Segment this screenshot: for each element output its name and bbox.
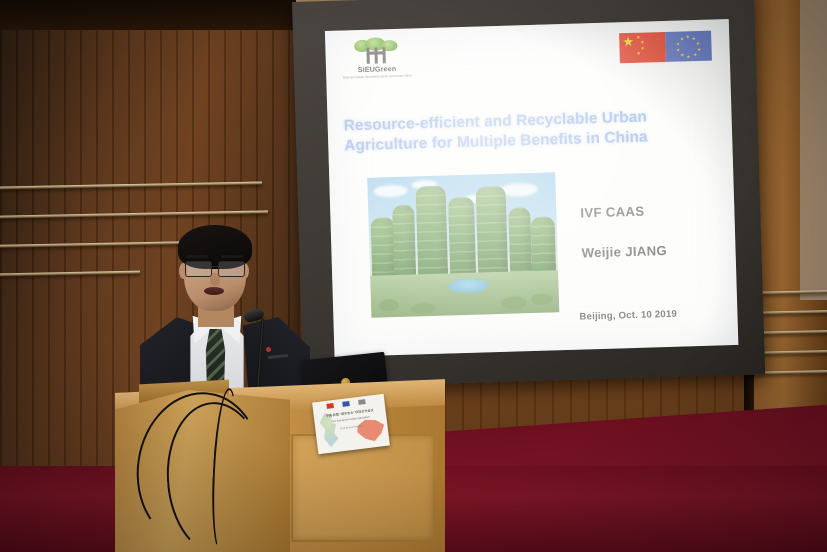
presenter-name: Weijie JIANG [581,241,731,260]
nose [210,273,220,286]
lapel-pin [266,347,271,352]
sign-eu-flag-icon [342,401,350,407]
organization-label: IVF CAAS [580,201,730,220]
sieugreen-logo: SiEUGreen Sino-European innovative green… [339,36,414,86]
mouth [204,287,224,295]
slide-title: Resource-efficient and Recyclable Urban … [343,105,716,157]
vertical-forest-image [367,172,559,318]
projection-screen: SiEUGreen Sino-European innovative green… [292,0,765,388]
tree-pillars-icon [353,37,400,64]
eu-flag-icon: ★ ★ ★ ★ ★ ★ ★ ★ ★ ★ [665,31,712,62]
flags-group: ★ ★ ★ ★ ★ ★ ★ ★ ★ ★ ★ ★ ★ [619,31,712,64]
podium-front-panel [291,434,435,542]
place-date-label: Beijing, Oct. 10 2019 [579,307,738,323]
right-light-panel [800,0,827,300]
china-map-icon [354,416,387,445]
eyebrow [221,255,243,258]
presentation-photo: SiEUGreen Sino-European innovative green… [0,0,827,552]
eyebrow [186,255,208,258]
presentation-slide: SiEUGreen Sino-European innovative green… [325,19,738,357]
podium-meeting-sign: 中国-欧盟 "城市农业" 项目合作会议 Sino-European Urban … [312,394,390,454]
china-flag-icon: ★ ★ ★ ★ ★ [619,32,666,63]
eu-star-ring: ★ ★ ★ ★ ★ ★ ★ ★ ★ ★ [679,36,699,56]
sign-logo-icon [358,399,366,405]
sign-china-flag-icon [326,403,334,409]
lectern-podium [115,396,445,552]
logo-subtitle: Sino-European innovative green and smart… [340,73,414,80]
